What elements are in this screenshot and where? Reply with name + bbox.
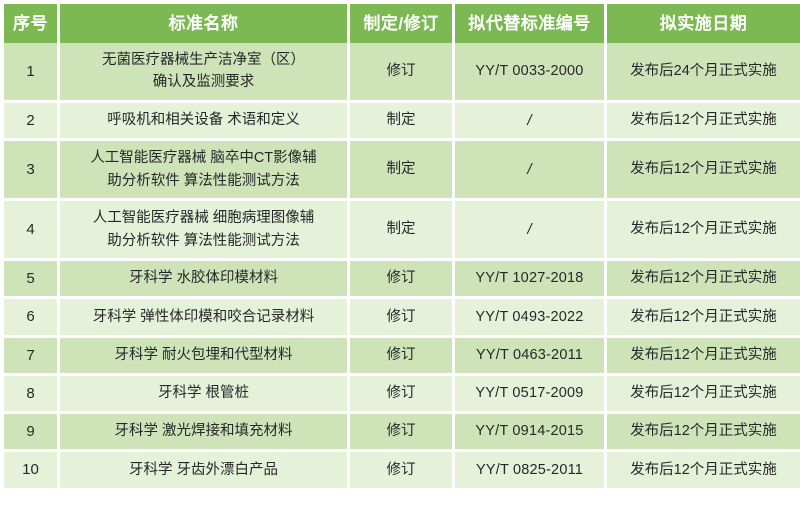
table-row: 7牙科学 耐火包埋和代型材料修订YY/T 0463-2011发布后12个月正式实… (4, 338, 800, 376)
cell-revision-type: 修订 (350, 261, 455, 299)
standard-name-line-1: 呼吸机和相关设备 术语和定义 (66, 109, 341, 131)
cell-implementation-date: 发布后24个月正式实施 (607, 43, 800, 103)
cell-revision-type: 修订 (350, 338, 455, 376)
cell-replaced-standard-code: YY/T 0463-2011 (455, 338, 607, 376)
cell-standard-name: 人工智能医疗器械 细胞病理图像辅助分析软件 算法性能测试方法 (60, 201, 350, 261)
cell-replaced-standard-code: YY/T 0825-2011 (455, 452, 607, 487)
column-header-name: 标准名称 (60, 4, 350, 43)
standard-name-line-2: 确认及监测要求 (66, 71, 341, 93)
standard-name-line-1: 牙科学 根管桩 (66, 382, 341, 404)
standard-name-line-1: 人工智能医疗器械 细胞病理图像辅 (66, 207, 341, 229)
cell-replaced-standard-code: YY/T 1027-2018 (455, 261, 607, 299)
cell-sequence-number: 9 (4, 414, 60, 452)
standard-name-line-1: 牙科学 耐火包埋和代型材料 (66, 344, 341, 366)
cell-standard-name: 人工智能医疗器械 脑卒中CT影像辅助分析软件 算法性能测试方法 (60, 141, 350, 201)
cell-sequence-number: 3 (4, 141, 60, 201)
cell-replaced-standard-code: YY/T 0493-2022 (455, 299, 607, 337)
cell-standard-name: 牙科学 牙齿外漂白产品 (60, 452, 350, 487)
cell-sequence-number: 5 (4, 261, 60, 299)
cell-replaced-standard-code: YY/T 0914-2015 (455, 414, 607, 452)
table-row: 8牙科学 根管桩修订YY/T 0517-2009发布后12个月正式实施 (4, 376, 800, 414)
cell-implementation-date: 发布后12个月正式实施 (607, 414, 800, 452)
cell-revision-type: 修订 (350, 43, 455, 103)
cell-replaced-standard-code: YY/T 0517-2009 (455, 376, 607, 414)
cell-standard-name: 牙科学 弹性体印模和咬合记录材料 (60, 299, 350, 337)
cell-standard-name: 无菌医疗器械生产洁净室（区）确认及监测要求 (60, 43, 350, 103)
cell-implementation-date: 发布后12个月正式实施 (607, 201, 800, 261)
cell-revision-type: 制定 (350, 103, 455, 141)
cell-revision-type: 修订 (350, 414, 455, 452)
column-header-type: 制定/修订 (350, 4, 455, 43)
table-row: 9牙科学 激光焊接和填充材料修订YY/T 0914-2015发布后12个月正式实… (4, 414, 800, 452)
cell-replaced-standard-code: / (455, 141, 607, 201)
cell-sequence-number: 7 (4, 338, 60, 376)
cell-implementation-date: 发布后12个月正式实施 (607, 299, 800, 337)
table-row: 5牙科学 水胶体印模材料修订YY/T 1027-2018发布后12个月正式实施 (4, 261, 800, 299)
column-header-code: 拟代替标准编号 (455, 4, 607, 43)
standards-table: 序号 标准名称 制定/修订 拟代替标准编号 拟实施日期 1无菌医疗器械生产洁净室… (4, 4, 800, 488)
cell-revision-type: 修订 (350, 452, 455, 487)
table-row: 4人工智能医疗器械 细胞病理图像辅助分析软件 算法性能测试方法制定/发布后12个… (4, 201, 800, 261)
cell-revision-type: 制定 (350, 141, 455, 201)
cell-implementation-date: 发布后12个月正式实施 (607, 452, 800, 487)
cell-implementation-date: 发布后12个月正式实施 (607, 376, 800, 414)
cell-implementation-date: 发布后12个月正式实施 (607, 261, 800, 299)
cell-replaced-standard-code: / (455, 201, 607, 261)
cell-revision-type: 修订 (350, 376, 455, 414)
table-row: 3人工智能医疗器械 脑卒中CT影像辅助分析软件 算法性能测试方法制定/发布后12… (4, 141, 800, 201)
cell-replaced-standard-code: / (455, 103, 607, 141)
standard-name-line-1: 牙科学 牙齿外漂白产品 (66, 459, 341, 481)
table-header-row: 序号 标准名称 制定/修订 拟代替标准编号 拟实施日期 (4, 4, 800, 43)
cell-standard-name: 牙科学 水胶体印模材料 (60, 261, 350, 299)
cell-implementation-date: 发布后12个月正式实施 (607, 103, 800, 141)
standards-table-container: 序号 标准名称 制定/修订 拟代替标准编号 拟实施日期 1无菌医疗器械生产洁净室… (4, 4, 800, 531)
cell-sequence-number: 8 (4, 376, 60, 414)
standard-name-line-1: 牙科学 激光焊接和填充材料 (66, 420, 341, 442)
cell-sequence-number: 4 (4, 201, 60, 261)
cell-sequence-number: 2 (4, 103, 60, 141)
cell-sequence-number: 6 (4, 299, 60, 337)
standard-name-line-2: 助分析软件 算法性能测试方法 (66, 170, 341, 192)
table-row: 6牙科学 弹性体印模和咬合记录材料修订YY/T 0493-2022发布后12个月… (4, 299, 800, 337)
table-body: 1无菌医疗器械生产洁净室（区）确认及监测要求修订YY/T 0033-2000发布… (4, 43, 800, 488)
cell-revision-type: 制定 (350, 201, 455, 261)
table-header: 序号 标准名称 制定/修订 拟代替标准编号 拟实施日期 (4, 4, 800, 43)
cell-sequence-number: 10 (4, 452, 60, 487)
cell-replaced-standard-code: YY/T 0033-2000 (455, 43, 607, 103)
cell-implementation-date: 发布后12个月正式实施 (607, 338, 800, 376)
cell-standard-name: 牙科学 根管桩 (60, 376, 350, 414)
column-header-seq: 序号 (4, 4, 60, 43)
cell-sequence-number: 1 (4, 43, 60, 103)
table-row: 2呼吸机和相关设备 术语和定义制定/发布后12个月正式实施 (4, 103, 800, 141)
standard-name-line-2: 助分析软件 算法性能测试方法 (66, 230, 341, 252)
cell-standard-name: 牙科学 激光焊接和填充材料 (60, 414, 350, 452)
standard-name-line-1: 无菌医疗器械生产洁净室（区） (66, 49, 341, 71)
cell-revision-type: 修订 (350, 299, 455, 337)
standard-name-line-1: 人工智能医疗器械 脑卒中CT影像辅 (66, 147, 341, 169)
cell-standard-name: 牙科学 耐火包埋和代型材料 (60, 338, 350, 376)
cell-implementation-date: 发布后12个月正式实施 (607, 141, 800, 201)
standard-name-line-1: 牙科学 水胶体印模材料 (66, 267, 341, 289)
table-row: 10牙科学 牙齿外漂白产品修订YY/T 0825-2011发布后12个月正式实施 (4, 452, 800, 487)
column-header-date: 拟实施日期 (607, 4, 800, 43)
table-row: 1无菌医疗器械生产洁净室（区）确认及监测要求修订YY/T 0033-2000发布… (4, 43, 800, 103)
cell-standard-name: 呼吸机和相关设备 术语和定义 (60, 103, 350, 141)
standard-name-line-1: 牙科学 弹性体印模和咬合记录材料 (66, 306, 341, 328)
